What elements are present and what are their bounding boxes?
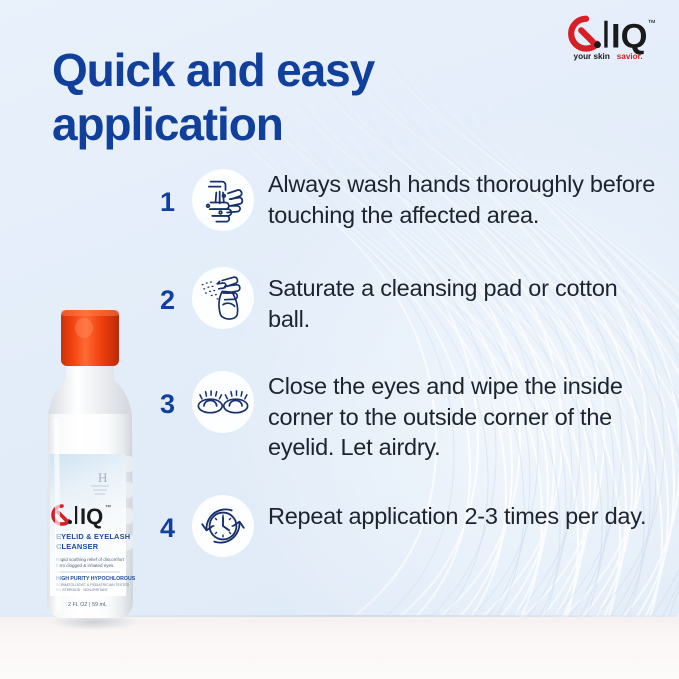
washing-hands-icon xyxy=(186,163,260,237)
logo-trademark: ™ xyxy=(647,19,655,28)
label-brand-text: IQ xyxy=(80,504,103,529)
step-text: Repeat application 2-3 times per day. xyxy=(260,489,660,532)
label-claims-2: NO STEROIDS · NON-IRRITANT xyxy=(56,588,109,592)
steps-list: 1 Always wash hands thoroughly before to… xyxy=(160,163,660,581)
step-item: 2 Saturate a cleansing pad or cotton xyxy=(160,261,660,335)
label-product-name-1: EYELID & EYELASH xyxy=(56,532,130,541)
bottle-neck xyxy=(48,366,132,418)
heading-line-1: Quick and easy xyxy=(52,44,374,96)
logo-iq-text: IQ xyxy=(611,18,647,56)
clock-repeat-icon xyxy=(186,489,260,563)
bottle-cap xyxy=(61,310,119,366)
label-product-name-2: CLEANSER xyxy=(56,542,99,551)
step-item: 1 Always wash hands thoroughly before to… xyxy=(160,163,660,237)
label-purity: HIGH PURITY HYPOCHLOROUS xyxy=(56,576,136,582)
label-description-2: from clogged & irritated eyes. xyxy=(56,563,115,568)
closed-eyes-icon xyxy=(186,365,260,439)
step-text: Saturate a cleansing pad or cotton ball. xyxy=(260,261,660,334)
brand-logo: IQ ™ your skin savior. xyxy=(563,14,659,62)
logo-tagline-prefix: your skin xyxy=(574,52,610,61)
step-item: 4 Repeat application 2-3 times per day. xyxy=(160,489,660,563)
label-claims-1: DERMATOLOGIST & PEDIATRICIAN TESTED xyxy=(56,583,130,587)
step-item: 3 Close the eyes and wipe the inside cor… xyxy=(160,365,660,463)
step-text: Close the eyes and wipe the inside corne… xyxy=(260,365,660,463)
heading-line-2: application xyxy=(52,98,283,150)
step-number: 3 xyxy=(160,365,186,418)
bottle-label: H IQ ™ EYELID & EYELASH CLEANSER Rapid s… xyxy=(50,454,136,608)
step-text: Always wash hands thoroughly before touc… xyxy=(260,163,660,230)
logo-tagline-accent: savior. xyxy=(617,52,643,61)
step-number: 4 xyxy=(160,489,186,542)
step-number: 1 xyxy=(160,163,186,216)
label-description-1: Rapid soothing relief of discomfort xyxy=(56,557,125,562)
label-brand: IQ ™ xyxy=(53,504,111,529)
label-brand-trademark: ™ xyxy=(105,504,111,511)
label-volume: 2 FL OZ | 59 mL xyxy=(68,602,107,608)
product-bottle: H IQ ™ EYELID & EYELASH CLEANSER Rapid s… xyxy=(36,306,148,632)
page-title: Quick and easy application xyxy=(52,44,482,152)
bottle-highlight xyxy=(56,418,59,612)
step-number: 2 xyxy=(160,261,186,314)
hand-spray-bottle-icon xyxy=(186,261,260,335)
q-logo-icon xyxy=(571,19,601,49)
label-seal-letter: H xyxy=(98,470,107,485)
